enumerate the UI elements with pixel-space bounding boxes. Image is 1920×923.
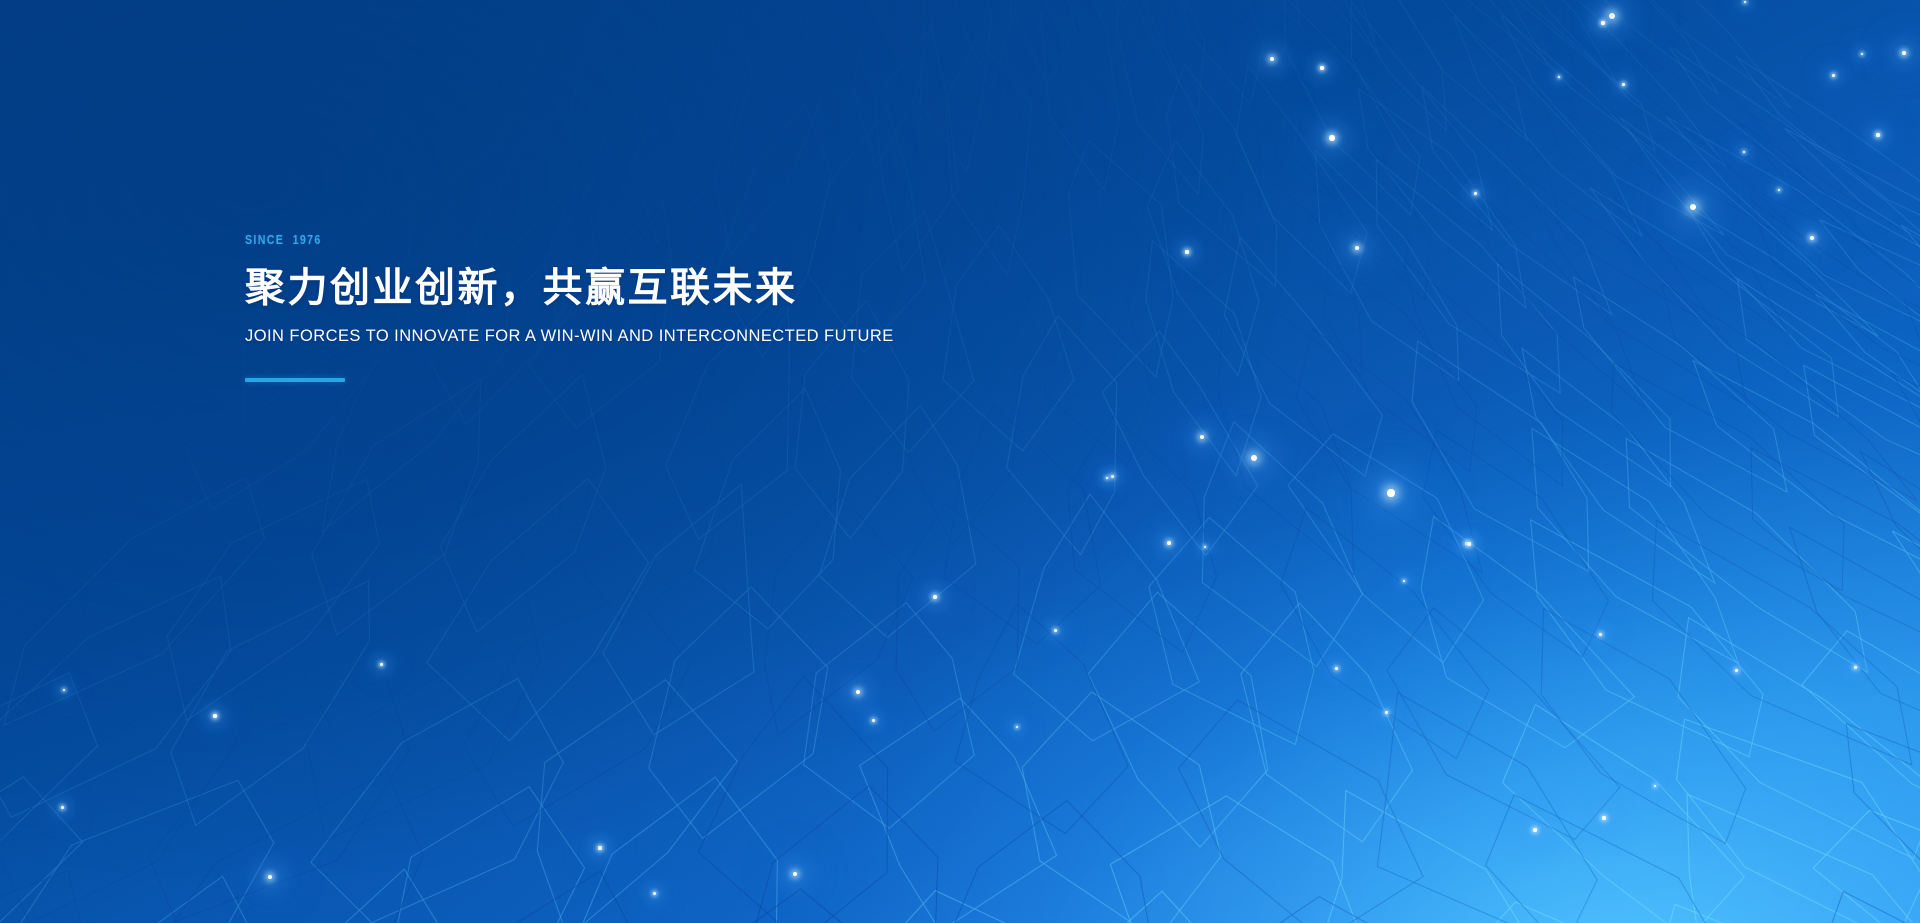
hero-headline: 聚力创业创新，共赢互联未来 — [245, 264, 1145, 313]
hero-eyebrow: SINCE 1976 — [245, 233, 983, 247]
hero-banner: SINCE 1976 聚力创业创新，共赢互联未来 JOIN FORCES TO … — [0, 0, 1920, 923]
hero-subheadline: JOIN FORCES TO INNOVATE FOR A WIN-WIN AN… — [245, 326, 1145, 347]
hero-copy-block: SINCE 1976 聚力创业创新，共赢互联未来 JOIN FORCES TO … — [245, 233, 1145, 382]
hexagon-mesh-background — [0, 0, 1920, 923]
hero-accent-rule — [245, 378, 345, 382]
